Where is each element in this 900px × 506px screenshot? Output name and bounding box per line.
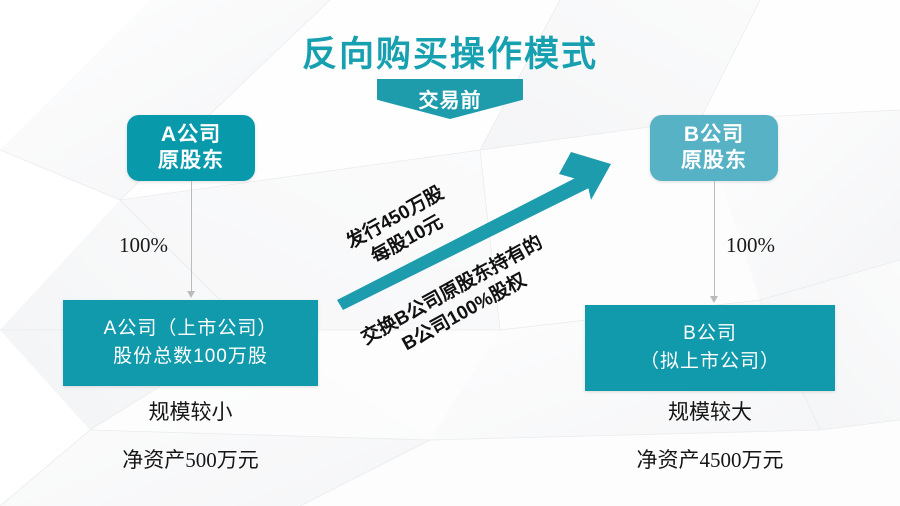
slide-canvas: 反向购买操作模式 交易前 A公司 原股东 B公司 原股东 100% 100% 发…: [0, 0, 900, 506]
node-a-company-line2: 股份总数100万股: [113, 343, 268, 371]
node-b-company-line1: B公司: [683, 320, 737, 348]
node-a-company-line1: A公司（上市公司）: [104, 315, 278, 343]
caption-a-scale: 规模较小: [63, 396, 318, 426]
connector-line-left: [191, 181, 192, 293]
node-b-shareholders[interactable]: B公司 原股东: [650, 115, 778, 181]
ownership-label-left: 100%: [119, 233, 168, 258]
node-a-company[interactable]: A公司（上市公司） 股份总数100万股: [63, 300, 318, 386]
caption-b-scale: 规模较大: [585, 396, 835, 426]
node-b-shareholders-line1: B公司: [684, 122, 744, 148]
caption-b-net-assets: 净资产4500万元: [585, 444, 835, 474]
caption-a-net-assets: 净资产500万元: [63, 444, 318, 474]
node-b-company-line2: （拟上市公司）: [640, 348, 780, 376]
node-b-shareholders-line2: 原股东: [681, 148, 747, 174]
page-title: 反向购买操作模式: [0, 26, 900, 77]
stage-banner: 交易前: [377, 79, 523, 119]
node-b-company[interactable]: B公司 （拟上市公司）: [585, 305, 835, 391]
connector-arrowhead-right: [710, 296, 718, 303]
connector-arrowhead-left: [187, 291, 195, 298]
node-a-shareholders-line2: 原股东: [158, 148, 224, 174]
node-a-shareholders-line1: A公司: [161, 122, 221, 148]
banner-label: 交易前: [377, 79, 523, 119]
node-a-shareholders[interactable]: A公司 原股东: [127, 115, 255, 181]
connector-line-right: [714, 181, 715, 298]
ownership-label-right: 100%: [726, 233, 775, 258]
